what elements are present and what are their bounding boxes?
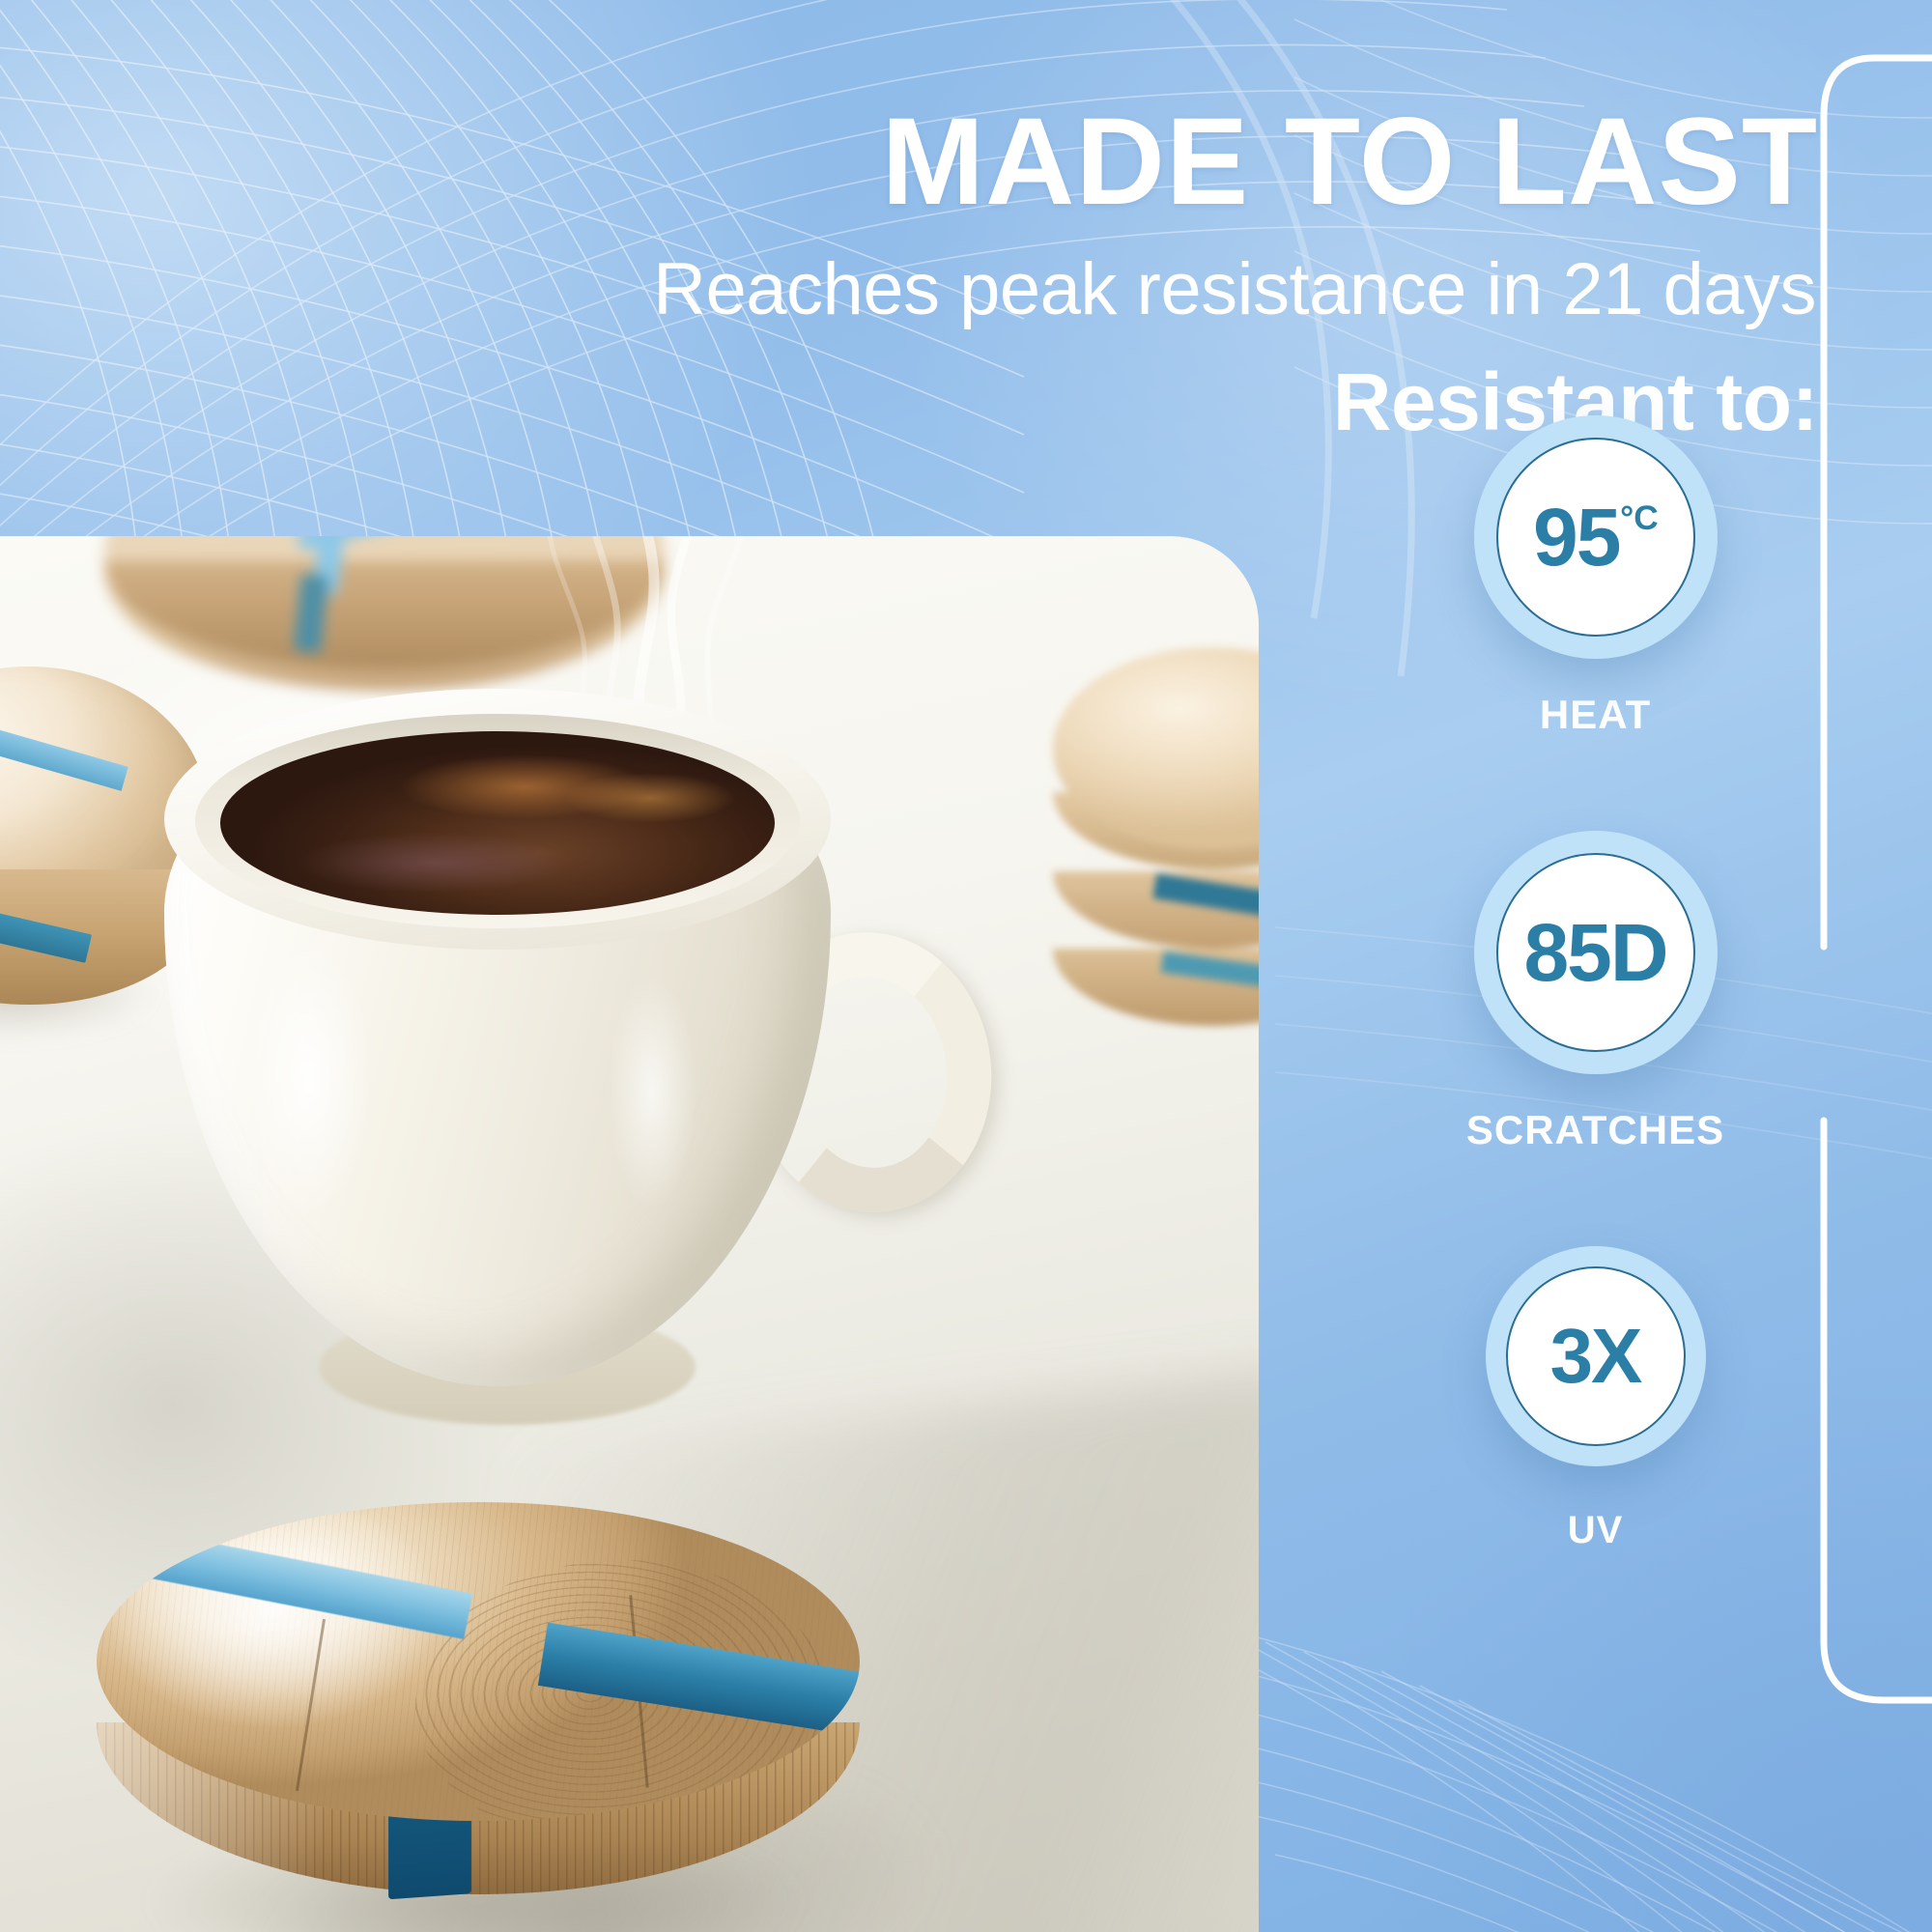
infographic-canvas: MADE TO LAST Reaches peak resistance in … xyxy=(0,0,1932,1932)
badge-heat-unit: °C xyxy=(1620,499,1659,537)
badge-scratches-value: 85D xyxy=(1523,912,1666,993)
coaster-main xyxy=(97,1502,860,1908)
badge-heat-inner: 95°C xyxy=(1496,438,1695,637)
badge-uv-inner: 3X xyxy=(1506,1266,1686,1446)
badge-label-uv: UV xyxy=(1259,1509,1932,1552)
badge-scratches[interactable]: 85D xyxy=(1474,831,1718,1074)
tea-liquid xyxy=(220,731,775,915)
tea-cup xyxy=(135,642,966,1463)
badge-scratches-inner: 85D xyxy=(1496,853,1695,1052)
badge-label-scratches: SCRATCHES xyxy=(1259,1107,1932,1153)
badge-group-uv: 3X UV xyxy=(1259,1246,1932,1552)
page-subtitle: Reaches peak resistance in 21 days xyxy=(653,253,1816,327)
badge-group-heat: 95°C HEAT xyxy=(1259,415,1932,738)
product-photo xyxy=(0,536,1259,1932)
badge-group-scratches: 85D SCRATCHES xyxy=(1259,831,1932,1153)
coaster-stack-right xyxy=(1053,647,1259,1034)
page-title: MADE TO LAST xyxy=(881,100,1818,224)
badge-uv-value: 3X xyxy=(1550,1318,1641,1395)
badge-heat[interactable]: 95°C xyxy=(1474,415,1718,659)
resistance-badge-column: 95°C HEAT 85D SCRATCHES 3X UV xyxy=(1259,415,1932,1932)
badge-label-heat: HEAT xyxy=(1259,692,1932,738)
badge-heat-value: 95°C xyxy=(1533,497,1658,578)
badge-uv[interactable]: 3X xyxy=(1486,1246,1706,1466)
badge-heat-number: 95 xyxy=(1533,492,1619,582)
